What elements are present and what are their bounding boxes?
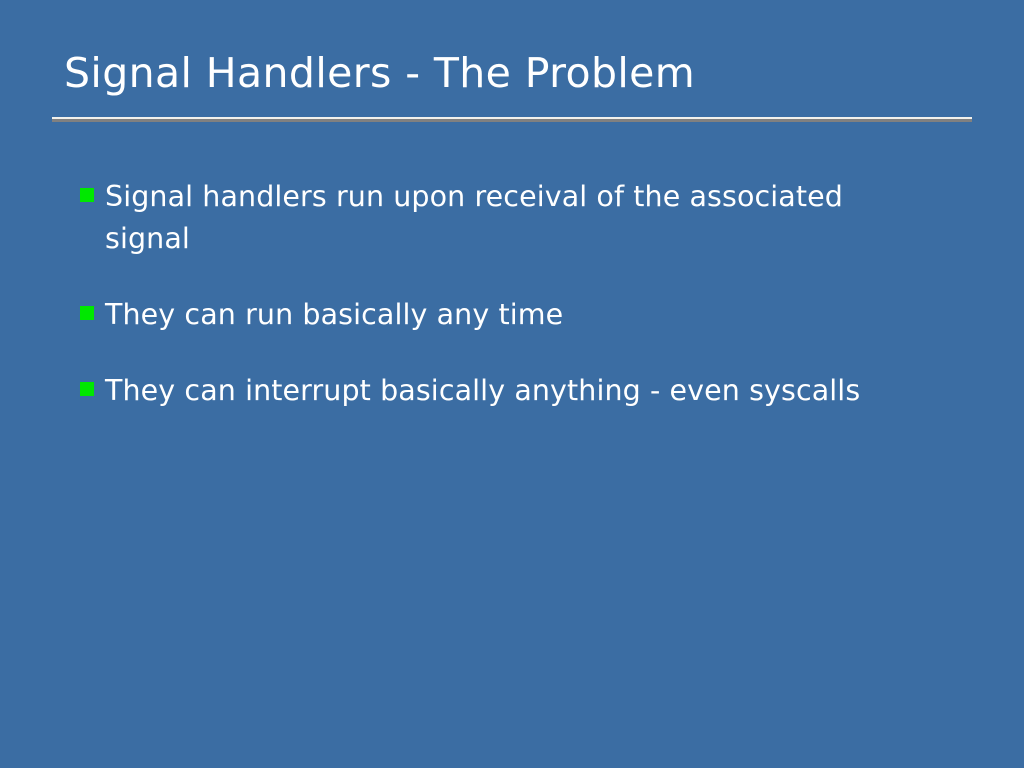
page-title: Signal Handlers - The Problem (52, 44, 972, 102)
list-item-label: They can run basically any time (105, 294, 905, 336)
presentation-slide: Signal Handlers - The Problem Signal han… (0, 0, 1024, 768)
list-item-label: They can interrupt basically anything - … (105, 370, 905, 412)
slide-body: Signal handlers run upon receival of the… (80, 176, 960, 412)
square-bullet-icon (80, 188, 94, 202)
square-bullet-icon (80, 382, 94, 396)
list-item: Signal handlers run upon receival of the… (80, 176, 960, 260)
list-item-label: Signal handlers run upon receival of the… (105, 176, 895, 260)
title-divider (52, 117, 972, 122)
title-divider-shadow (52, 119, 972, 122)
square-bullet-icon (80, 306, 94, 320)
list-item: They can interrupt basically anything - … (80, 370, 960, 412)
slide-title-block: Signal Handlers - The Problem (52, 44, 972, 102)
list-item: They can run basically any time (80, 294, 960, 336)
